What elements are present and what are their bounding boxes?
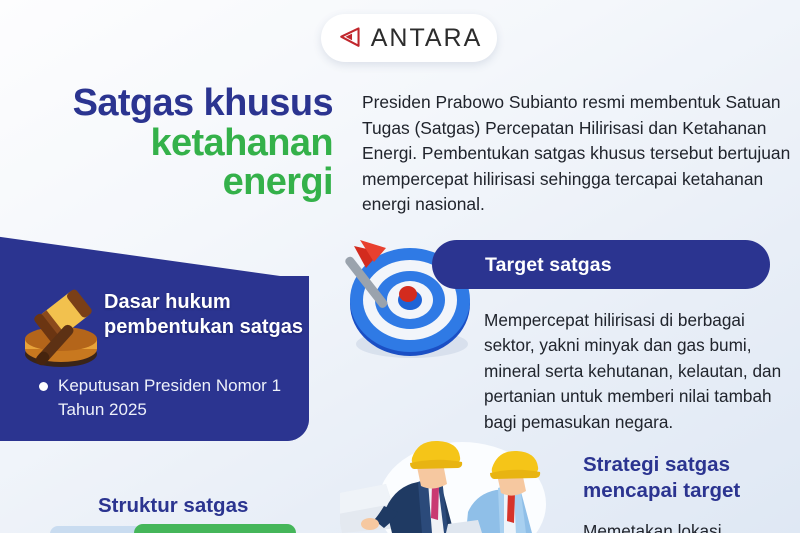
engineers-blueprint-illustration (340, 432, 585, 533)
antara-wordmark: ANTARA (371, 26, 483, 51)
antara-logo-chip: ANTARA (321, 14, 497, 62)
target-satgas-body: Mempercepat hilirisasi di berbagai sekto… (484, 308, 784, 435)
antara-triangle-logo-icon (336, 25, 362, 51)
bullet-point-icon (39, 382, 48, 391)
strategi-satgas-body: Memetakan lokasi (583, 519, 798, 533)
target-satgas-heading: Target satgas (485, 254, 612, 277)
strategi-title-line-2: mencapai target (583, 479, 740, 502)
intro-paragraph: Presiden Prabowo Subianto resmi membentu… (362, 90, 794, 218)
dasar-hukum-bullet-item: Keputusan Presiden Nomor 1 Tahun 2025 (58, 374, 288, 422)
infographic-canvas: ANTARA Satgas khusus ketahanan energi Pr… (0, 0, 800, 533)
dasar-hukum-title-line-1: Dasar hukum (104, 291, 231, 313)
struktur-satgas-title: Struktur satgas (98, 494, 248, 518)
dasar-hukum-title: Dasar hukum pembentukan satgas (104, 290, 319, 340)
struktur-placeholder-pill-light (50, 526, 142, 533)
dasar-hukum-title-line-2: pembentukan satgas (104, 316, 303, 338)
headline-line-2: ketahanan (18, 124, 333, 164)
page-title: Satgas khusus ketahanan energi (18, 84, 333, 203)
headline-line-1: Satgas khusus (18, 84, 333, 124)
struktur-placeholder-pill-green (134, 524, 296, 533)
headline-line-3: energi (18, 163, 333, 203)
strategi-title-line-1: Strategi satgas (583, 453, 730, 476)
gavel-icon (17, 281, 117, 377)
strategi-satgas-title: Strategi satgas mencapai target (583, 452, 798, 504)
